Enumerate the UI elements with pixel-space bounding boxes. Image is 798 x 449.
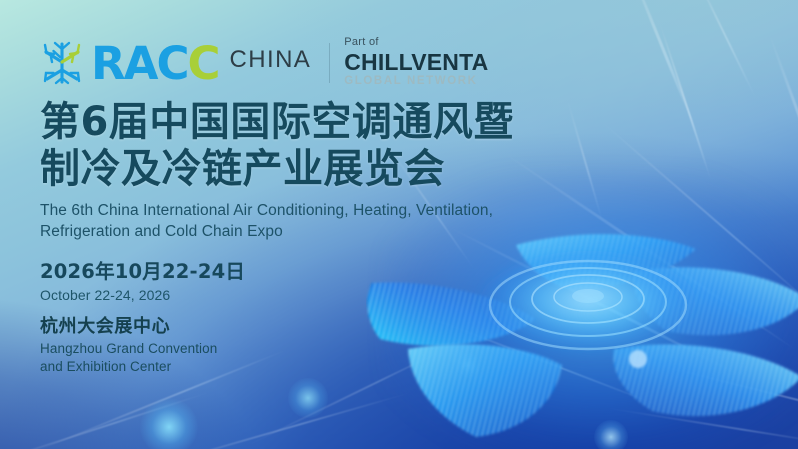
event-date-block: 2026年10月22-24日 October 22-24, 2026 — [40, 260, 245, 305]
promotional-banner: RAC C CHINA Part of CHILLVENTA GLOBAL NE… — [0, 0, 798, 449]
chillventa-wordmark: CHILLVENTA — [344, 51, 488, 74]
racc-wordmark-blue: RAC — [91, 41, 188, 86]
chillventa-part-of-label: Part of — [344, 37, 488, 48]
headline-line-2: 制冷及冷链产业展览会 — [40, 146, 514, 193]
logo-china-label: CHINA — [230, 48, 312, 72]
racc-wordmark: RAC C — [91, 41, 219, 86]
logo-lockup: RAC C CHINA Part of CHILLVENTA GLOBAL NE… — [40, 38, 488, 89]
event-venue-block: 杭州大会展中心 Hangzhou Grand Convention and Ex… — [40, 315, 217, 376]
event-date-chinese: 2026年10月22-24日 — [40, 260, 245, 284]
headline-line-1: 第6届中国国际空调通风暨 — [40, 99, 514, 146]
chillventa-network-label: GLOBAL NETWORK — [344, 76, 488, 88]
subtitle-line-2: Refrigeration and Cold Chain Expo — [40, 221, 493, 242]
chillventa-lockup: Part of CHILLVENTA GLOBAL NETWORK — [344, 37, 488, 88]
snowflake-icon — [40, 40, 84, 86]
event-venue-english-line-1: Hangzhou Grand Convention — [40, 340, 217, 358]
event-date-english: October 22-24, 2026 — [40, 286, 245, 305]
event-venue-chinese: 杭州大会展中心 — [40, 315, 217, 338]
event-venue-english-line-2: and Exhibition Center — [40, 358, 217, 376]
headline-chinese: 第6届中国国际空调通风暨 制冷及冷链产业展览会 — [40, 99, 514, 193]
subtitle-line-1: The 6th China International Air Conditio… — [40, 200, 493, 221]
logo-divider — [329, 43, 330, 83]
subtitle-english: The 6th China International Air Conditio… — [40, 200, 493, 242]
racc-wordmark-green: C — [188, 41, 219, 86]
event-venue-english: Hangzhou Grand Convention and Exhibition… — [40, 340, 217, 376]
